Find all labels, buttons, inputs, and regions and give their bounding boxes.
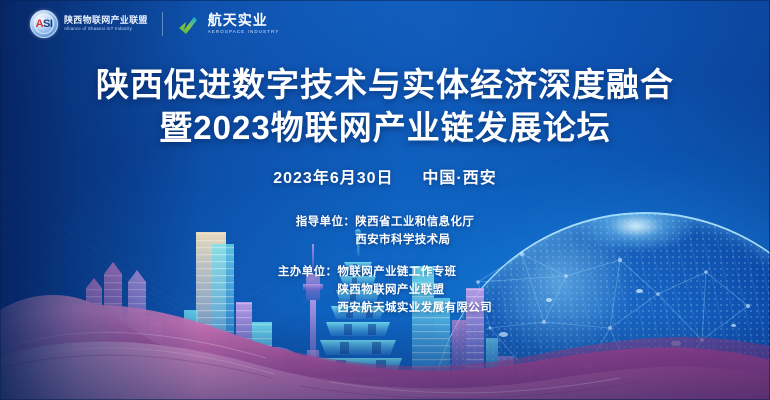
- event-banner: ASI 陕西物联网产业联盟 Alliance of Shaanxi IoT In…: [0, 0, 770, 400]
- banner-border: [0, 0, 770, 400]
